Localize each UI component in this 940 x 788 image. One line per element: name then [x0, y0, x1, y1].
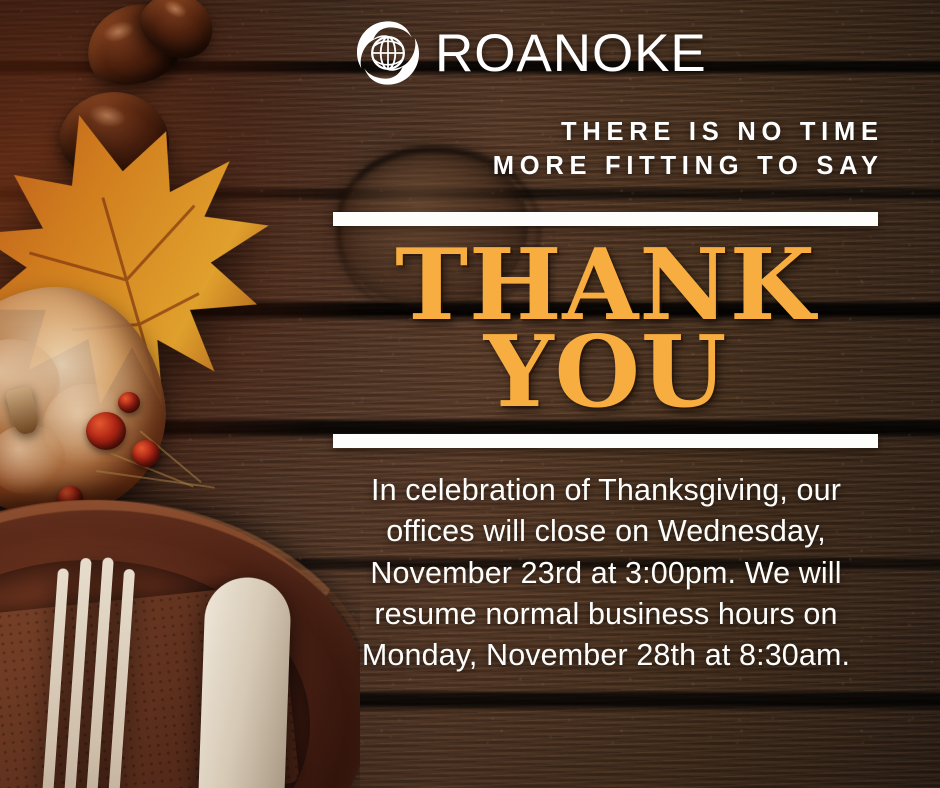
brand-logo: ROANOKE: [355, 20, 707, 86]
thanksgiving-announcement-graphic: ROANOKE THERE IS NO TIME MORE FITTING TO…: [0, 0, 940, 788]
highlight: [161, 0, 190, 21]
divider-top: [333, 212, 878, 226]
highlight: [100, 18, 137, 46]
kicker-text: THERE IS NO TIME MORE FITTING TO SAY: [333, 116, 878, 184]
berry-icon: [132, 440, 160, 467]
globe-swirl-logo-icon: [355, 20, 421, 86]
message-column: ROANOKE THERE IS NO TIME MORE FITTING TO…: [333, 0, 878, 788]
kicker-line-1: THERE IS NO TIME: [333, 116, 884, 150]
berry-icon: [86, 412, 126, 450]
autumn-still-life-photo: [0, 0, 360, 788]
berry-icon: [118, 392, 140, 413]
headline: THANK YOU: [333, 240, 878, 418]
kicker-line-2: MORE FITTING TO SAY: [333, 150, 884, 184]
brand-name: ROANOKE: [435, 27, 707, 80]
body-paragraph: In celebration of Thanksgiving, our offi…: [337, 470, 875, 677]
divider-bottom: [333, 434, 878, 448]
